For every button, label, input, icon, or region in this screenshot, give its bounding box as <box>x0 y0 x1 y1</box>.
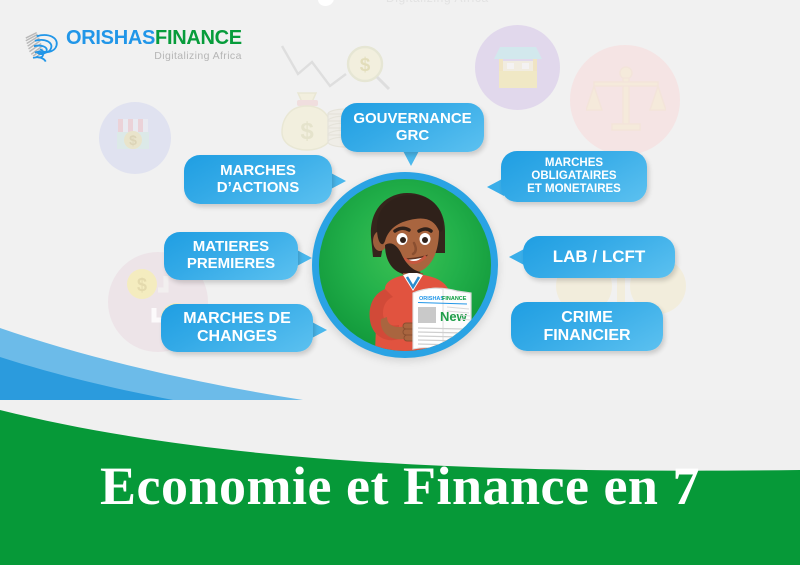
logo-tagline: Digitalizing Africa <box>66 51 242 62</box>
bubble-marches-obligataires[interactable]: MARCHES OBLIGATAIRES ET MONETAIRES <box>501 151 647 202</box>
market-stall-coin-icon: $ <box>111 113 161 163</box>
page-title: Economie et Finance en 7 <box>0 455 800 517</box>
logo-primary: ORISHAS <box>66 27 155 49</box>
avatar: ORISHAS FINANCE New <box>312 172 498 358</box>
orishas-swirl-icon <box>22 29 64 67</box>
bubble-line: MATIERES <box>187 239 275 256</box>
market-stand-icon <box>488 39 548 97</box>
bubble-line: MARCHES DE <box>183 310 291 328</box>
bubble-line: GOUVERNANCE <box>353 111 471 128</box>
svg-text:ORISHAS: ORISHAS <box>419 296 444 302</box>
top-cut-tagline: Digitalizing Africa <box>386 0 489 5</box>
man-reading-newspaper-illustration: ORISHAS FINANCE New <box>319 179 491 351</box>
logo-text-block: ORISHASFINANCE Digitalizing Africa <box>66 28 242 62</box>
bubble-line: FINANCIER <box>543 327 630 345</box>
logo-wordmark: ORISHASFINANCE <box>66 28 242 48</box>
scales-of-justice-icon <box>586 62 666 140</box>
bubble-crime-financier[interactable]: CRIME FINANCIER <box>511 302 663 351</box>
bubble-line: D’ACTIONS <box>217 180 300 197</box>
avatar-circle-inner: ORISHAS FINANCE New <box>319 179 491 351</box>
bubble-gouvernance-grc[interactable]: GOUVERNANCE GRC <box>341 103 484 152</box>
bubble-lab-lcft[interactable]: LAB / LCFT <box>523 236 675 278</box>
svg-text:$: $ <box>300 118 314 145</box>
bubble-line: PREMIERES <box>187 256 275 273</box>
bubble-line: GRC <box>353 128 471 145</box>
bubble-line: OBLIGATAIRES <box>527 170 621 183</box>
svg-text:$: $ <box>129 132 137 148</box>
brand-logo[interactable]: ORISHASFINANCE Digitalizing Africa <box>22 28 242 67</box>
bubble-line: CHANGES <box>183 328 291 346</box>
bubble-marches-actions[interactable]: MARCHES D’ACTIONS <box>184 155 332 204</box>
bubble-line: ET MONETAIRES <box>527 183 621 196</box>
bubble-line: MARCHES <box>217 163 300 180</box>
bubble-line: CRIME <box>543 309 630 327</box>
bubble-marches-changes[interactable]: MARCHES DE CHANGES <box>161 304 313 352</box>
bubble-matieres-premieres[interactable]: MATIERES PREMIERES <box>164 232 298 280</box>
svg-text:FINANCE: FINANCE <box>442 296 467 302</box>
svg-text:$: $ <box>360 55 371 76</box>
logo-secondary: FINANCE <box>155 27 242 49</box>
poster-canvas: $ $ $ <box>0 0 800 565</box>
bubble-line: LAB / LCFT <box>553 247 646 266</box>
svg-text:$: $ <box>137 275 147 295</box>
bubble-line: MARCHES <box>527 157 621 170</box>
